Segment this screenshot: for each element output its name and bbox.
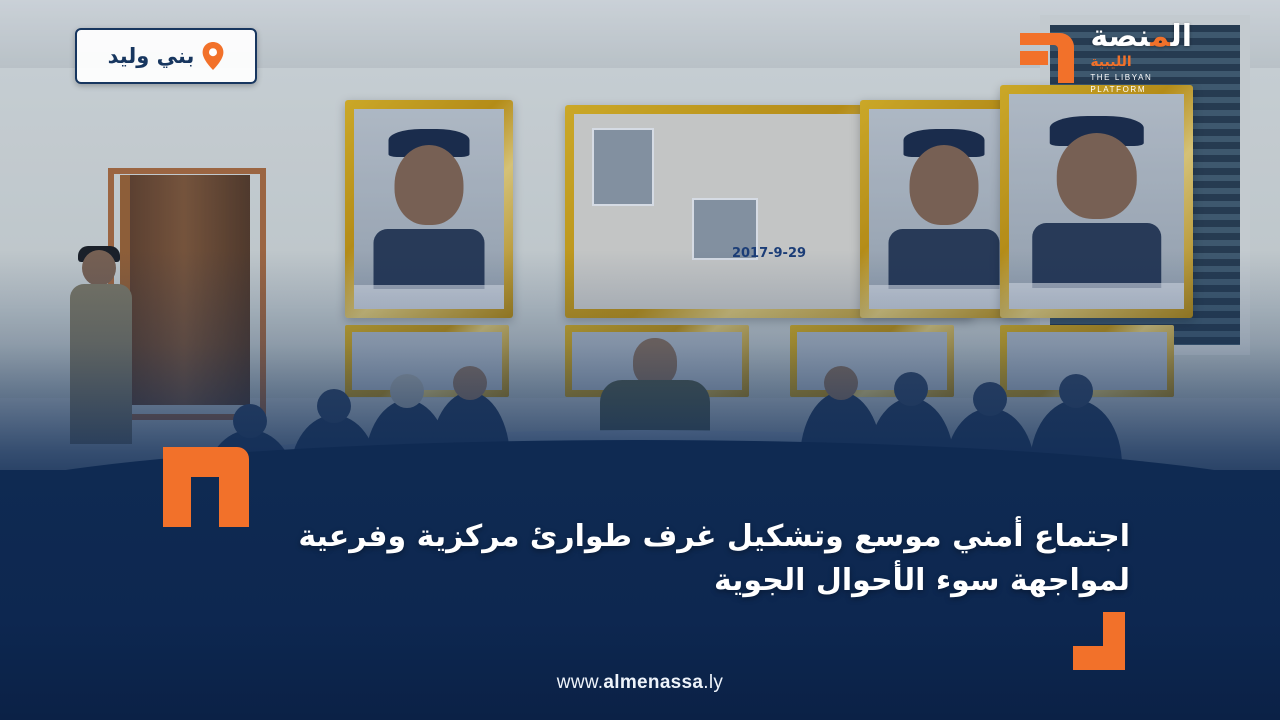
logo-english-line2: PLATFORM (1090, 85, 1146, 94)
footer-website-url[interactable]: www.almenassa.ly (0, 672, 1280, 694)
logo-accent-letter: م (1150, 19, 1170, 54)
logo-arabic-name: المنصة (1090, 22, 1192, 52)
headline-text: اجتماع أمني موسع وتشكيل غرف طوارئ مركزية… (0, 515, 1280, 602)
site-logo[interactable]: المنصة الليبية THE LIBYAN PLATFORM (1014, 22, 1192, 94)
logo-arabic-subtitle: الليبية (1090, 54, 1131, 70)
logo-wordmark: المنصة الليبية THE LIBYAN PLATFORM (1090, 22, 1192, 94)
url-prefix: www. (557, 672, 604, 693)
location-badge[interactable]: بني وليد (75, 28, 257, 84)
poster-canvas: 2017-9-29 (0, 0, 1280, 720)
logo-english-line1: THE LIBYAN (1090, 73, 1152, 82)
url-brand: almenassa (603, 672, 703, 693)
url-suffix: .ly (703, 672, 723, 693)
logo-bracket-icon (1014, 27, 1080, 89)
location-label: بني وليد (108, 44, 195, 68)
orange-quote-close-icon (1063, 612, 1125, 670)
map-pin-icon (202, 42, 224, 70)
